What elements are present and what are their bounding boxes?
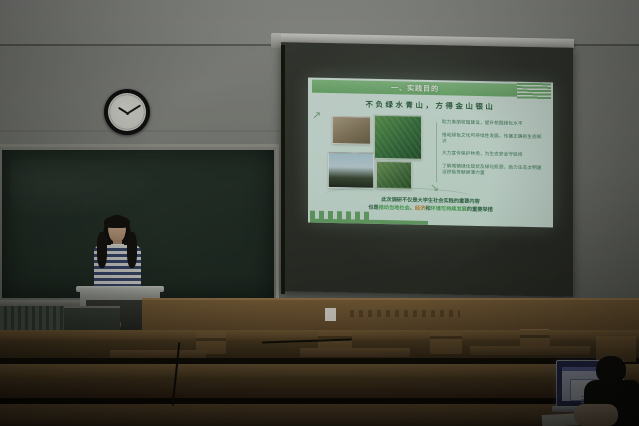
chair-slat xyxy=(520,335,550,338)
slide-title: 一、实践目的 xyxy=(312,80,518,97)
bench xyxy=(110,350,206,358)
chair-slat xyxy=(430,336,462,339)
wall-markings xyxy=(350,310,460,317)
slide-bullet-list: 助力美丽校园建设，提升校园绿化水平 推动绿色文化可持续性发展，传播正确的生态知识… xyxy=(442,120,546,184)
projector-screen-edge xyxy=(281,45,285,294)
slide-bullet: 大力宣传保护林场，为生态安全守底线 xyxy=(442,151,546,159)
presentation-slide: 一、实践目的 不负绿水青山，方得金山银山 ↗ ↘ 助力美丽校园建设，提升校园绿化… xyxy=(308,78,553,228)
banner-highlight-social: 推动当地社会 xyxy=(379,205,410,212)
slide-bullet: 助力美丽校园建设，提升校园绿化水平 xyxy=(442,120,546,128)
slide-bullet: 推动绿色文化可持续性发展，传播正确的生态知识 xyxy=(442,133,546,147)
banner-highlight-environment: 环境可持续发展 xyxy=(431,206,467,213)
slide-bullet: 了解城镇绿化现状及绿化瓶颈，助力生态文明建设积极贡献绵薄力量 xyxy=(442,164,546,178)
foliage-texture xyxy=(375,116,421,159)
slide-photo-fern xyxy=(374,115,422,160)
slide-photo-nursery xyxy=(376,161,412,190)
slide-photo-forest-sky xyxy=(328,152,374,189)
presenter-hair-right xyxy=(127,232,137,268)
wainscot-panel xyxy=(142,300,639,334)
presenter-fringe xyxy=(104,216,130,228)
arrow-up-right-icon: ↗ xyxy=(312,110,324,122)
projector-screen-roller-end xyxy=(271,33,281,48)
desk-row-front xyxy=(0,380,639,398)
clock-center-pin xyxy=(126,112,129,115)
wall-clock xyxy=(104,89,150,135)
blackboard-glare xyxy=(10,160,160,220)
bench xyxy=(470,346,590,355)
slide-subtitle: 不负绿水青山，方得金山银山 xyxy=(308,98,553,114)
presenter-hair-left xyxy=(97,232,107,268)
banner-text: 也是 xyxy=(368,205,378,211)
chair xyxy=(430,330,462,354)
chair-slat xyxy=(196,338,226,341)
slide-photo-grid xyxy=(326,114,426,192)
slide-divider xyxy=(436,122,437,182)
wall-note-paper xyxy=(325,308,336,321)
audience-member-head xyxy=(596,356,626,384)
audience-member-with-laptop xyxy=(548,356,639,426)
banner-highlight-economy: 经济 xyxy=(415,206,425,212)
slide-photo-dry-grass xyxy=(332,116,371,145)
bench xyxy=(300,348,410,357)
foliage-texture xyxy=(377,162,411,189)
desk-row-top xyxy=(0,364,639,380)
wall-seam xyxy=(0,130,285,132)
banner-text: 的重要举措 xyxy=(467,207,493,214)
classroom-photo: 一、实践目的 不负绿水青山，方得金山银山 ↗ ↘ 助力美丽校园建设，提升校园绿化… xyxy=(0,0,639,426)
stripes-decoration-icon xyxy=(517,83,551,100)
audience-member-arm xyxy=(574,404,618,426)
